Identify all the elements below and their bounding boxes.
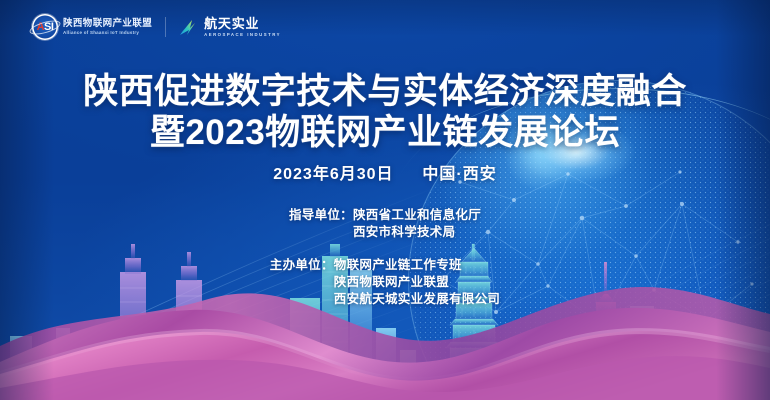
list-item: 陕西省工业和信息化厅	[353, 207, 481, 224]
host-units-label: 主办单位：	[270, 257, 334, 274]
list-item: 西安航天城实业发展有限公司	[334, 291, 500, 308]
guidance-units: 指导单位： 陕西省工业和信息化厅 西安市科学技术局	[0, 207, 770, 241]
guidance-units-list: 陕西省工业和信息化厅 西安市科学技术局	[353, 207, 481, 241]
list-item: 西安市科学技术局	[353, 224, 481, 241]
poster-content: 陕西促进数字技术与实体经济深度融合 暨2023物联网产业链发展论坛 2023年6…	[0, 0, 770, 400]
list-item: 物联网产业链工作专班	[334, 257, 500, 274]
event-date: 2023年6月30日	[273, 166, 393, 183]
guidance-units-label: 指导单位：	[289, 207, 353, 224]
host-units: 主办单位： 物联网产业链工作专班 陕西物联网产业联盟 西安航天城实业发展有限公司	[0, 257, 770, 308]
poster-title-line1: 陕西促进数字技术与实体经济深度融合	[0, 71, 770, 112]
host-units-list: 物联网产业链工作专班 陕西物联网产业联盟 西安航天城实业发展有限公司	[334, 257, 500, 308]
event-location: 中国·西安	[422, 166, 496, 183]
list-item: 陕西物联网产业联盟	[334, 274, 500, 291]
organizers-block: 指导单位： 陕西省工业和信息化厅 西安市科学技术局 主办单位： 物联网产业链工作…	[0, 207, 770, 308]
poster-canvas: ASI 陕西物联网产业联盟 Alliance of Shaanxi IoT In…	[0, 0, 770, 400]
event-date-location: 2023年6月30日 中国·西安	[0, 160, 770, 184]
poster-title-line2: 暨2023物联网产业链发展论坛	[0, 112, 770, 153]
